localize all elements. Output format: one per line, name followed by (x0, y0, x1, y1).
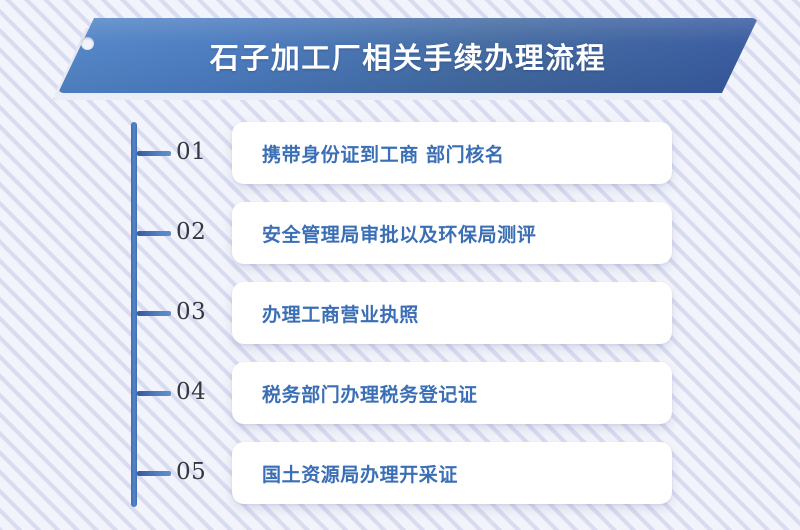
step-number-03: 03 (176, 294, 222, 330)
step-card-label-03: 办理工商营业执照 (232, 300, 419, 327)
timeline-tick-icon (137, 311, 171, 316)
timeline-step-03: 03 办理工商营业执照 (0, 282, 800, 344)
step-number-01: 01 (176, 134, 222, 170)
timeline-tick-icon (137, 471, 171, 476)
step-card-02[interactable]: 安全管理局审批以及环保局测评 (232, 202, 672, 264)
timeline-tick-icon (137, 231, 171, 236)
timeline-step-04: 04 税务部门办理税务登记证 (0, 362, 800, 424)
step-card-05[interactable]: 国土资源局办理开采证 (232, 442, 672, 504)
timeline-step-01: 01 携带身份证到工商 部门核名 (0, 122, 800, 184)
step-card-03[interactable]: 办理工商营业执照 (232, 282, 672, 344)
step-number-02: 02 (176, 214, 222, 250)
step-card-04[interactable]: 税务部门办理税务登记证 (232, 362, 672, 424)
timeline-step-05: 05 国土资源局办理开采证 (0, 442, 800, 504)
step-card-label-04: 税务部门办理税务登记证 (232, 380, 478, 407)
step-card-01[interactable]: 携带身份证到工商 部门核名 (232, 122, 672, 184)
infographic-root: 石子加工厂相关手续办理流程 01 携带身份证到工商 部门核名 02 安全管理局审… (0, 0, 800, 530)
page-title: 石子加工厂相关手续办理流程 (58, 18, 758, 93)
timeline-tick-icon (137, 391, 171, 396)
timeline-step-02: 02 安全管理局审批以及环保局测评 (0, 202, 800, 264)
step-card-label-05: 国土资源局办理开采证 (232, 460, 458, 487)
title-banner: 石子加工厂相关手续办理流程 (0, 18, 800, 108)
timeline-tick-icon (137, 151, 171, 156)
step-card-label-01: 携带身份证到工商 部门核名 (232, 140, 504, 167)
step-number-05: 05 (176, 454, 222, 490)
step-card-label-02: 安全管理局审批以及环保局测评 (232, 220, 536, 247)
step-number-04: 04 (176, 374, 222, 410)
